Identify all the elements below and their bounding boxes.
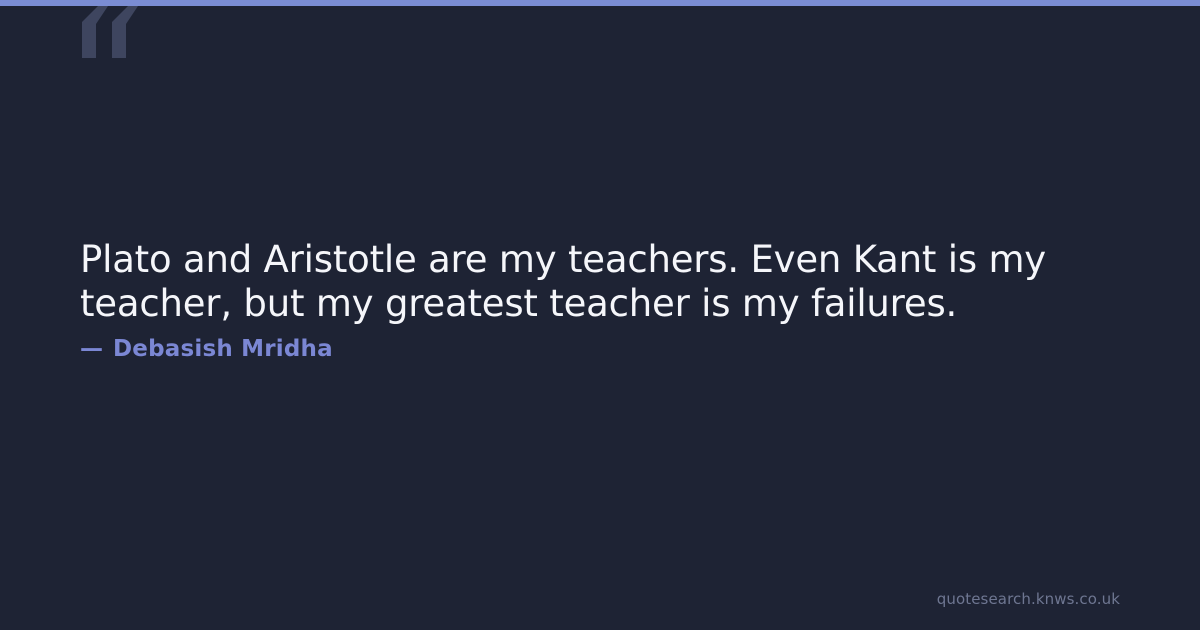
attribution-dash: — [80,338,103,361]
attribution-author[interactable]: Debasish Mridha [113,338,333,361]
site-watermark: quotesearch.knws.co.uk [937,590,1120,608]
quote-text: Plato and Aristotle are my teachers. Eve… [80,238,1120,327]
quote-card: Plato and Aristotle are my teachers. Eve… [0,0,1200,630]
top-accent-bar [0,0,1200,6]
open-quote-icon [78,6,158,96]
attribution: — Debasish Mridha [80,338,333,361]
quote-text-block: Plato and Aristotle are my teachers. Eve… [80,238,1120,327]
